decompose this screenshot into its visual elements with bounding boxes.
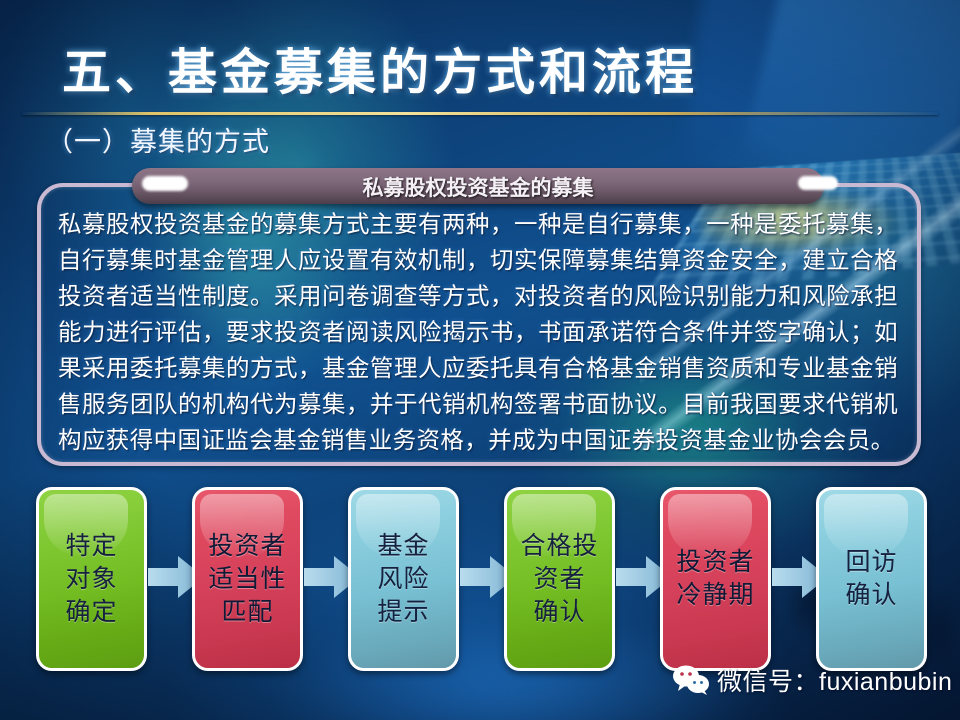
- process-flow-diagram: 特定 对象 确定 投资者 适当性 匹配: [0, 487, 960, 667]
- flow-node-1[interactable]: 特定 对象 确定: [36, 487, 147, 671]
- flow-node-3-label: 基金 风险 提示: [377, 530, 429, 629]
- flow-node-4-label: 合格投 资者 确认: [520, 530, 598, 629]
- flow-node-4-line1: 合格投: [520, 530, 598, 563]
- flow-node-2-label: 投资者 适当性 匹配: [208, 530, 286, 629]
- flow-node-1-label: 特定 对象 确定: [65, 530, 117, 629]
- panel-body-text: 私募股权投资基金的募集方式主要有两种，一种是自行募集，一种是委托募集，自行募集时…: [58, 206, 898, 458]
- flow-node-2-line1: 投资者: [208, 530, 286, 563]
- flow-node-6[interactable]: 回访 确认: [816, 487, 927, 671]
- flow-node-2-line3: 匹配: [208, 596, 286, 629]
- watermark: 微信号：fuxianbubin: [672, 660, 952, 700]
- flow-node-5-label: 投资者 冷静期: [676, 546, 754, 612]
- page-subtitle: （一）募集的方式: [46, 120, 270, 159]
- flow-node-5[interactable]: 投资者 冷静期: [660, 487, 771, 671]
- flow-node-2-line2: 适当性: [208, 563, 286, 596]
- flow-node-3[interactable]: 基金 风险 提示: [348, 487, 459, 671]
- flow-node-5-line2: 冷静期: [676, 579, 754, 612]
- flow-node-3-line2: 风险: [377, 563, 429, 596]
- flow-node-3-line3: 提示: [377, 596, 429, 629]
- wechat-icon: [672, 665, 710, 695]
- panel-header-title: 私募股权投资基金的募集: [132, 172, 824, 202]
- laptop-screen-inner-glow: [740, 0, 960, 165]
- flow-node-2[interactable]: 投资者 适当性 匹配: [192, 487, 303, 671]
- slide-canvas: 五、基金募集的方式和流程 （一）募集的方式 私募股权投资基金的募集 私募股权投资…: [0, 0, 960, 720]
- flow-node-6-label: 回访 确认: [845, 546, 897, 612]
- flow-node-6-line2: 确认: [845, 579, 897, 612]
- watermark-text: 微信号：fuxianbubin: [717, 662, 952, 698]
- flow-node-4-line2: 资者: [520, 563, 598, 596]
- flow-node-5-line1: 投资者: [676, 546, 754, 579]
- flow-node-3-line1: 基金: [377, 530, 429, 563]
- flow-node-4[interactable]: 合格投 资者 确认: [504, 487, 615, 671]
- flow-node-1-line3: 确定: [65, 596, 117, 629]
- flow-node-6-line1: 回访: [845, 546, 897, 579]
- flow-node-1-line1: 特定: [65, 530, 117, 563]
- page-title: 五、基金募集的方式和流程: [62, 33, 698, 104]
- title-divider-rule: [22, 112, 938, 115]
- flow-node-4-line3: 确认: [520, 596, 598, 629]
- flow-node-1-line2: 对象: [65, 563, 117, 596]
